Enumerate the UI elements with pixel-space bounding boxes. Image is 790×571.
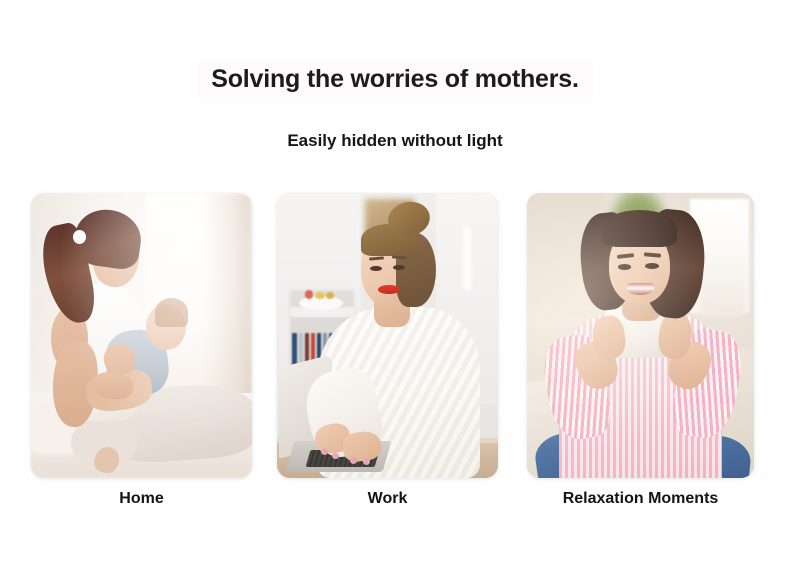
light-strip (463, 227, 472, 290)
photo-cards-row (31, 193, 759, 479)
page-subtitle: Easily hidden without light (0, 128, 790, 154)
captions-row: Home Work Relaxation Moments (31, 487, 759, 517)
page-title: Solving the worries of mothers. (0, 60, 790, 98)
photo-card-relaxation[interactable] (527, 193, 754, 478)
caption-work: Work (277, 487, 498, 511)
fingernail (350, 457, 357, 464)
woman-eye-left (370, 266, 382, 271)
caption-home: Home (31, 487, 252, 511)
page-title-text: Solving the worries of mothers. (197, 60, 592, 98)
caption-relaxation-moments: Relaxation Moments (527, 487, 754, 511)
promo-page: Solving the worries of mothers. Easily h… (0, 0, 790, 571)
soft-light-glow (527, 193, 754, 478)
photo-card-home[interactable] (31, 193, 252, 478)
photo-relaxation (527, 193, 754, 478)
photo-home (31, 193, 252, 478)
fruit-yellow (315, 292, 325, 299)
photo-work (277, 193, 498, 478)
photo-card-work[interactable] (277, 193, 498, 478)
window-glow (31, 193, 252, 478)
